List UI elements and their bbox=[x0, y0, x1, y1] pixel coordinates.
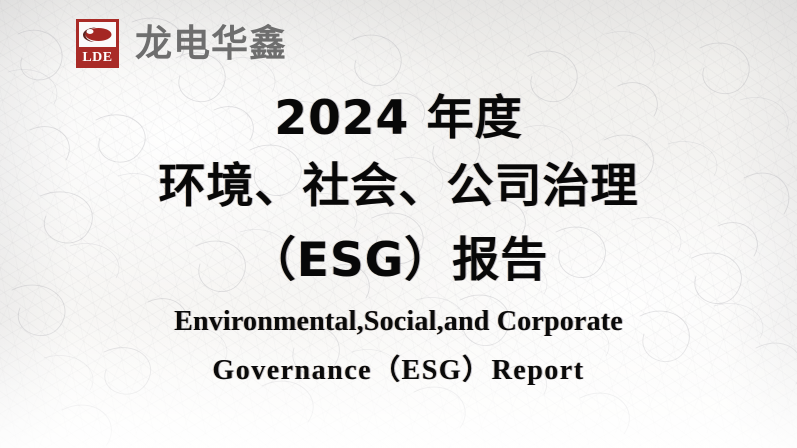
brand-logo: LDE 龙电华鑫 bbox=[76, 19, 287, 68]
logo-emblem-panel bbox=[79, 22, 116, 47]
title-line-year: 2024 年度 bbox=[0, 88, 797, 150]
title-line-esg-cn: 环境、社会、公司治理 bbox=[0, 150, 797, 224]
company-name-cn: 龙电华鑫 bbox=[135, 25, 287, 62]
subtitle-line-2: Governance（ESG）Report bbox=[0, 346, 797, 396]
swoosh-ellipse-icon bbox=[82, 26, 113, 43]
subtitle-line-1: Environmental,Social,and Corporate bbox=[0, 298, 797, 346]
logo-wordmark: LDE bbox=[79, 47, 116, 68]
report-cover-slide: LDE 龙电华鑫 2024 年度 环境、社会、公司治理 （ESG）报告 Envi… bbox=[0, 0, 797, 448]
lde-logo-mark: LDE bbox=[76, 19, 119, 68]
cover-title-block: 2024 年度 环境、社会、公司治理 （ESG）报告 Environmental… bbox=[0, 88, 797, 396]
title-line-report-cn: （ESG）报告 bbox=[0, 224, 797, 298]
